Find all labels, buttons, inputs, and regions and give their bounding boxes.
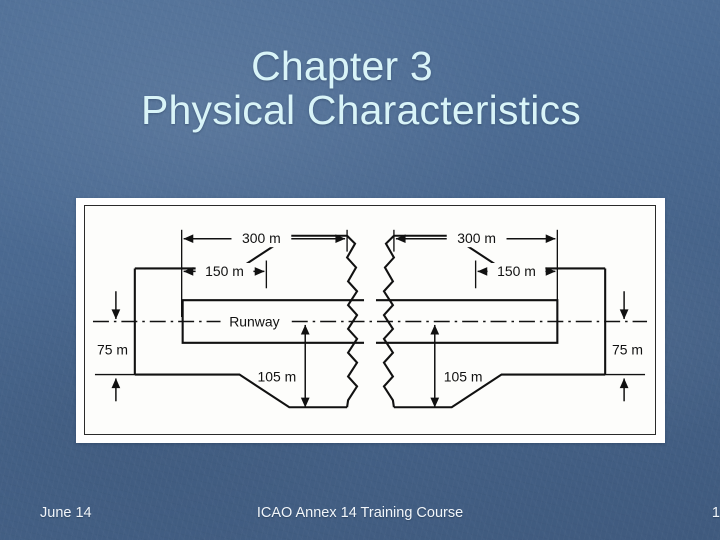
dimension-label-right-300: 300 m (457, 230, 496, 246)
title-line-1: Chapter 3 (0, 44, 720, 88)
presentation-slide: Chapter 3 Physical Characteristics (0, 0, 720, 540)
runway-label: Runway (229, 313, 279, 329)
dimension-label-left-105: 105 m (258, 368, 297, 384)
diagram-canvas: Runway 300 m 150 m 300 m 150 m 105 m (84, 205, 656, 435)
footer-page-number: 1 (30, 502, 720, 524)
runway-strip-diagram: Runway 300 m 150 m 300 m 150 m 105 m (85, 206, 655, 434)
dimension-label-left-150: 150 m (205, 263, 244, 279)
dimension-label-left-75: 75 m (97, 342, 128, 358)
slide-footer: June 14 ICAO Annex 14 Training Course 1 (0, 502, 720, 524)
strip-outline-right-bottom (394, 375, 605, 408)
page-title: Chapter 3 Physical Characteristics (0, 44, 720, 132)
strip-outline-left-bottom (135, 375, 347, 408)
dimension-label-right-75: 75 m (612, 342, 643, 358)
dimension-label-right-150: 150 m (497, 263, 536, 279)
dimension-label-left-300: 300 m (242, 230, 281, 246)
title-line-2: Physical Characteristics (2, 88, 720, 132)
diagram-picture-frame: Runway 300 m 150 m 300 m 150 m 105 m (76, 198, 665, 443)
dimension-label-right-105: 105 m (444, 368, 483, 384)
